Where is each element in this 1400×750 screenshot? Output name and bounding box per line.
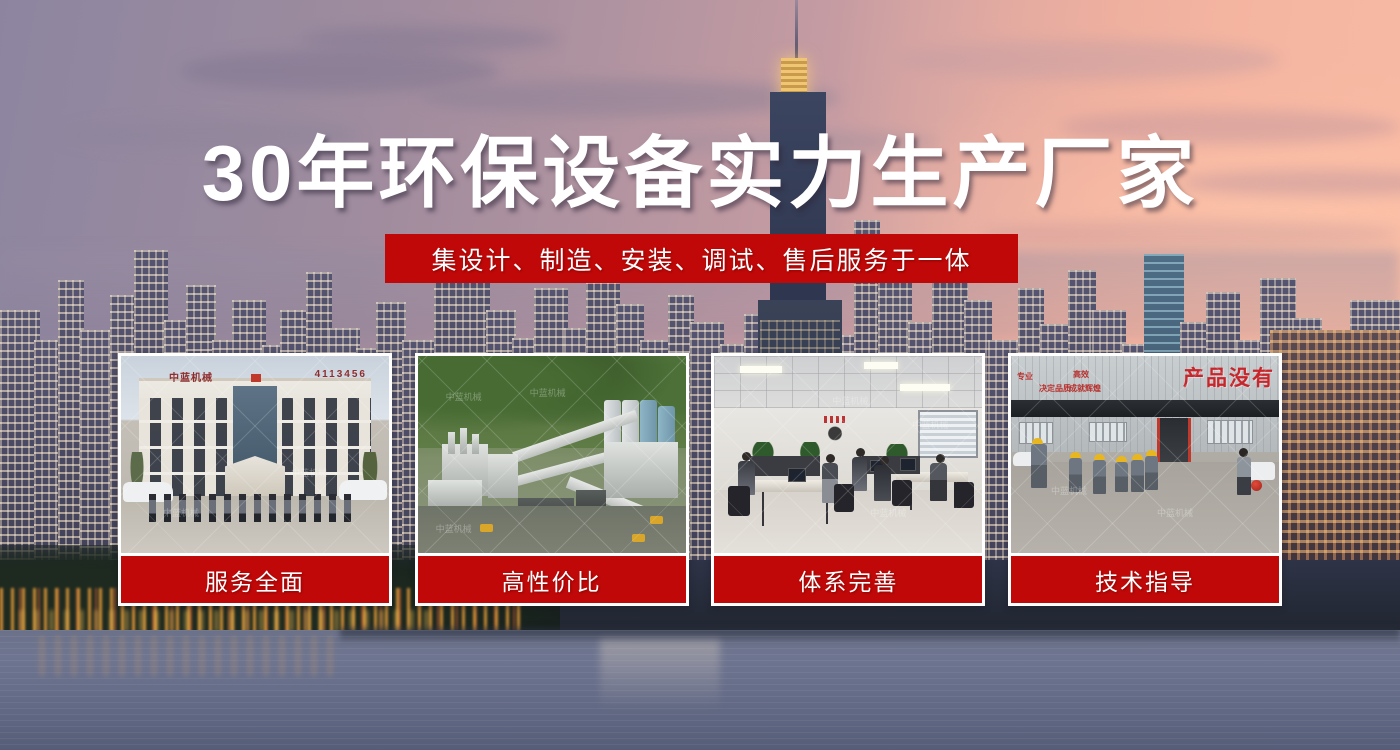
promotional-banner: 30年环保设备实力生产厂家 集设计、制造、安装、调试、售后服务于一体 中蓝机械 … — [0, 0, 1400, 750]
page-title: 30年环保设备实力生产厂家 — [0, 134, 1400, 212]
water-light-reflection — [600, 640, 720, 710]
card-caption-label: 体系完善 — [798, 563, 898, 597]
card-photo-industrial-plant: 中蓝机械 中蓝机械 中蓝机械 — [418, 356, 686, 553]
subtitle-banner: 集设计、制造、安装、调试、售后服务于一体 — [385, 234, 1018, 283]
card-caption-label: 高性价比 — [502, 563, 602, 597]
card-caption: 高性价比 — [418, 556, 686, 603]
feature-card[interactable]: 中蓝机械 中蓝机械 中蓝机械 高性价比 — [415, 353, 689, 606]
card-photo-office-building: 中蓝机械 4113456 中蓝机械 中蓝机械 — [121, 356, 389, 553]
factory-slogan: 成就辉煌 — [1069, 384, 1101, 394]
card-caption-label: 技术指导 — [1095, 563, 1195, 597]
water-light-reflection — [40, 636, 340, 676]
building-phone-number: 4113456 — [315, 369, 367, 380]
factory-slogan: 决定品质 — [1039, 384, 1071, 394]
card-caption: 技术指导 — [1011, 556, 1279, 603]
factory-slogan: 专业 — [1017, 372, 1033, 382]
card-caption: 体系完善 — [714, 556, 982, 603]
card-photo-office-interior: 中蓝机械 中蓝机械 中蓝机械 — [714, 356, 982, 553]
tower-antenna — [795, 0, 798, 62]
card-caption: 服务全面 — [121, 556, 389, 603]
feature-card[interactable]: 中蓝机械 4113456 中蓝机械 中蓝机械 服务全面 — [118, 353, 392, 606]
card-caption-label: 服务全面 — [205, 563, 305, 597]
card-photo-workers-at-factory: 产品没有 专业 决定品质 高效 成就辉煌 — [1011, 356, 1279, 553]
window-blinds — [918, 410, 978, 458]
staff-lineup — [149, 494, 361, 524]
subtitle-text: 集设计、制造、安装、调试、售后服务于一体 — [431, 241, 971, 277]
feature-card[interactable]: 产品没有 专业 决定品质 高效 成就辉煌 — [1008, 353, 1282, 606]
feature-card[interactable]: 中蓝机械 中蓝机械 中蓝机械 体系完善 — [711, 353, 985, 606]
wall-logo-icon — [818, 416, 852, 446]
feature-card-row: 中蓝机械 4113456 中蓝机械 中蓝机械 服务全面 — [118, 353, 1282, 606]
factory-wall-sign: 产品没有 — [1183, 362, 1275, 392]
red-safety-helmet — [1251, 480, 1262, 491]
factory-slogan: 高效 — [1073, 370, 1089, 380]
building-company-sign: 中蓝机械 — [169, 369, 213, 384]
factory-door — [1157, 418, 1191, 462]
